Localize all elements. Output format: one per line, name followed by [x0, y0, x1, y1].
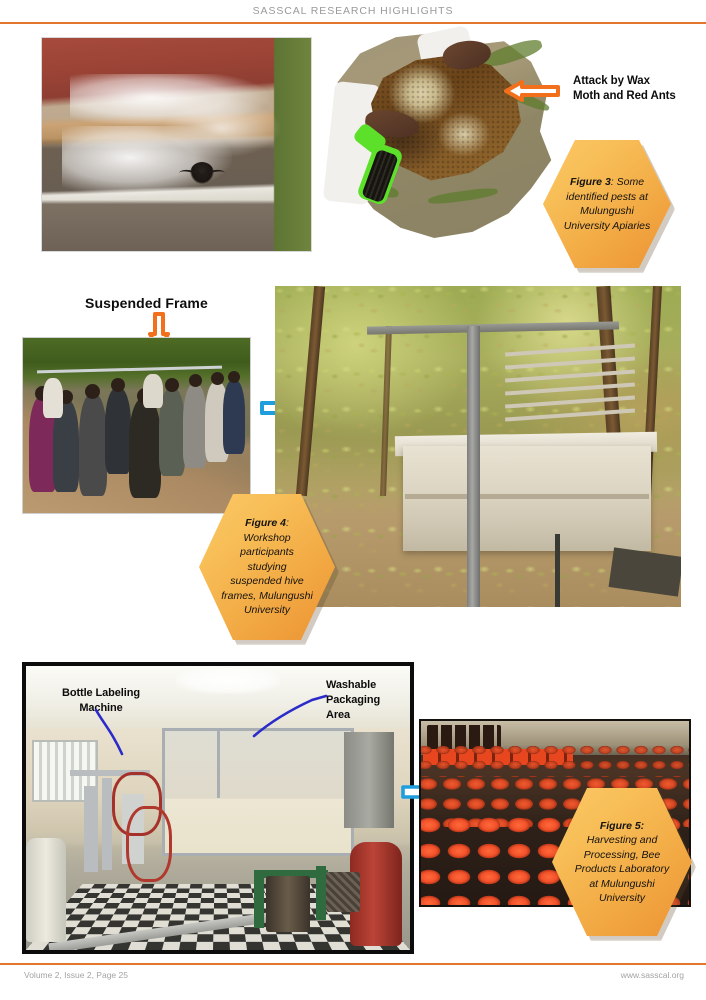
spider-icon — [190, 162, 214, 184]
side-cabinet — [344, 732, 394, 828]
labeling-machine-column — [84, 786, 98, 872]
figure-4-text: Workshop participants studying suspended… — [221, 532, 313, 617]
figure-5-caption-text: Figure 5: Harvesting and Processing, Bee… — [552, 819, 692, 906]
label-line-2: Moth and Red Ants — [573, 89, 698, 104]
page-footer: Volume 2, Issue 2, Page 25 www.sasscal.o… — [0, 968, 706, 988]
white-tank — [26, 838, 66, 942]
figure-5-label: Figure 5: — [600, 820, 644, 832]
photo-hive-with-pests — [41, 37, 312, 252]
figure-4-caption-text: Figure 4: Workshop participants studying… — [199, 516, 335, 618]
hive-frame-rack — [505, 348, 635, 430]
person-head — [211, 372, 224, 385]
stand-leg — [555, 534, 560, 607]
labeling-machine-column — [102, 778, 112, 870]
green-rack-post — [254, 870, 264, 928]
hive-frame-bar — [37, 366, 222, 374]
photo-damaged-honeycomb — [333, 33, 558, 238]
person — [43, 378, 63, 418]
person-head — [165, 378, 179, 392]
arrow-left-icon — [504, 80, 560, 102]
page-title: SASSCAL RESEARCH HIGHLIGHTS — [253, 0, 454, 22]
label-line-3: Area — [326, 708, 404, 723]
label-attack-by-wax-moth: Attack by Wax Moth and Red Ants — [573, 74, 698, 104]
leader-line-bottle-labeling — [90, 708, 134, 758]
figure-4-label: Figure 4 — [245, 517, 286, 529]
person-head — [228, 371, 240, 383]
page-header: SASSCAL RESEARCH HIGHLIGHTS — [0, 0, 706, 22]
jar-row-back — [419, 743, 691, 777]
figure-3-label: Figure 3 — [570, 176, 611, 188]
washable-packaging-enclosure — [162, 728, 354, 856]
person-head — [111, 378, 125, 392]
person — [143, 374, 163, 408]
figure-4-separator: : — [286, 517, 289, 529]
stand-post — [467, 326, 480, 607]
mesh-basket — [326, 872, 360, 912]
person — [79, 394, 107, 496]
ceiling-lamp — [176, 668, 280, 694]
label-line-1: Attack by Wax — [573, 74, 698, 89]
figure-3-caption-text: Figure 3: Some identified pests at Mulun… — [543, 175, 671, 233]
red-hose — [126, 806, 172, 882]
person — [223, 380, 245, 454]
photo-workshop-participants — [22, 337, 251, 514]
person-head — [85, 384, 100, 399]
label-washable-packaging-area: Washable Packaging Area — [326, 678, 404, 723]
header-rule — [0, 22, 706, 24]
label-line-1: Bottle Labeling — [42, 686, 160, 701]
photo-suspended-hive — [275, 286, 681, 607]
person — [105, 388, 131, 474]
person — [183, 384, 207, 468]
label-line-1: Washable — [326, 678, 404, 693]
press-drum — [266, 876, 310, 932]
person — [129, 398, 161, 498]
footer-website[interactable]: www.sasscal.org — [621, 970, 684, 980]
label-line-2: Packaging — [326, 693, 404, 708]
person-head — [189, 374, 202, 387]
label-suspended-frame: Suspended Frame — [85, 296, 208, 311]
footer-rule — [0, 963, 706, 965]
web-patch — [162, 98, 282, 158]
hive-band — [405, 494, 649, 499]
figure-5-text: Harvesting and Processing, Bee Products … — [575, 834, 670, 904]
leader-line-washable-packaging — [252, 692, 332, 740]
footer-volume-issue-page: Volume 2, Issue 2, Page 25 — [24, 970, 128, 980]
